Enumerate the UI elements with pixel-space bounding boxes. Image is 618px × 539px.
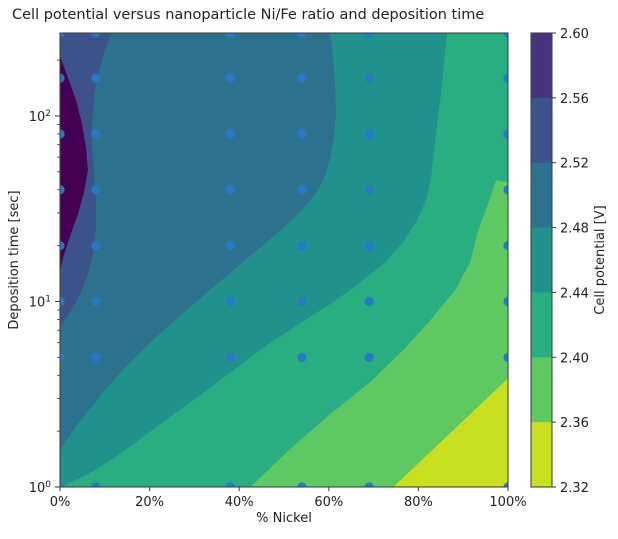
data-point bbox=[297, 129, 306, 138]
data-point bbox=[297, 185, 306, 194]
data-point bbox=[91, 297, 100, 306]
colorbar-band bbox=[531, 292, 552, 357]
x-tick-label: 100% bbox=[489, 495, 526, 510]
data-point bbox=[297, 73, 306, 82]
data-point bbox=[226, 241, 235, 250]
colorbar-tick-label: 2.40 bbox=[560, 351, 589, 366]
colorbar-tick-label: 2.60 bbox=[560, 27, 589, 42]
data-point bbox=[91, 353, 100, 362]
data-point bbox=[91, 241, 100, 250]
data-point bbox=[365, 73, 374, 82]
x-tick-label: 0% bbox=[50, 495, 71, 510]
colorbar-label: Cell potential [V] bbox=[593, 205, 608, 314]
colorbar-band bbox=[531, 33, 552, 98]
data-point bbox=[91, 73, 100, 82]
x-tick-label: 20% bbox=[135, 495, 164, 510]
colorbar-band bbox=[531, 228, 552, 293]
colorbar-tick-label: 2.56 bbox=[560, 92, 589, 107]
data-point bbox=[226, 73, 235, 82]
colorbar-tick-label: 2.48 bbox=[560, 222, 589, 237]
colorbar-tick-label: 2.52 bbox=[560, 157, 589, 172]
data-point bbox=[91, 185, 100, 194]
x-tick-label: 60% bbox=[314, 495, 343, 510]
colorbar-band bbox=[531, 98, 552, 163]
x-tick-label: 40% bbox=[225, 495, 254, 510]
data-point bbox=[297, 241, 306, 250]
data-point bbox=[226, 129, 235, 138]
colorbar-tick-label: 2.44 bbox=[560, 286, 589, 301]
data-point bbox=[365, 241, 374, 250]
data-point bbox=[297, 353, 306, 362]
colorbar-band bbox=[531, 422, 552, 487]
data-point bbox=[297, 297, 306, 306]
contour-figure: Cell potential versus nanoparticle Ni/Fe… bbox=[0, 0, 618, 539]
x-tick-label: 80% bbox=[404, 495, 433, 510]
colorbar-tick-label: 2.32 bbox=[560, 481, 589, 496]
plot-area: 0%20%40%60%80%100% 100101102 bbox=[29, 28, 527, 510]
colorbar-bands bbox=[531, 33, 552, 488]
colorbar-tick-label: 2.36 bbox=[560, 416, 589, 431]
data-point bbox=[226, 297, 235, 306]
data-point bbox=[365, 353, 374, 362]
data-point bbox=[365, 129, 374, 138]
data-point bbox=[91, 129, 100, 138]
contour-regions bbox=[60, 33, 508, 487]
page-title: Cell potential versus nanoparticle Ni/Fe… bbox=[12, 7, 484, 23]
y-axis-label: Deposition time [sec] bbox=[7, 190, 22, 329]
data-point bbox=[365, 185, 374, 194]
colorbar-band bbox=[531, 163, 552, 228]
colorbar-band bbox=[531, 357, 552, 422]
x-axis-label: % Nickel bbox=[256, 511, 312, 526]
data-point bbox=[365, 297, 374, 306]
data-point bbox=[226, 185, 235, 194]
data-point bbox=[226, 353, 235, 362]
